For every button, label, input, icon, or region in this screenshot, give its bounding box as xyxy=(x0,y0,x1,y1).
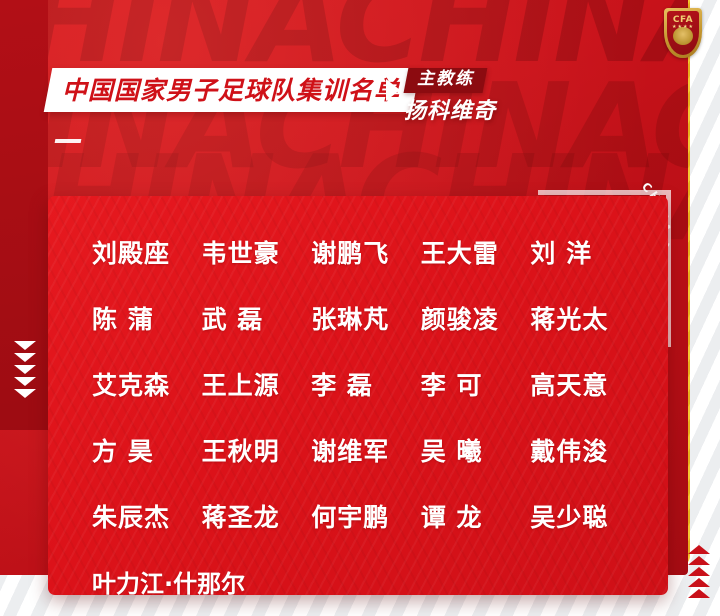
chevron-up-icon xyxy=(688,589,710,598)
chevron-down-icon xyxy=(14,353,36,362)
player-name: 谢鹏飞 xyxy=(311,230,421,278)
player-name: 吴 曦 xyxy=(421,428,531,476)
roster-grid: 刘殿座韦世豪谢鹏飞王大雷刘 洋陈 蒲武 磊张琳芃颜骏凌蒋光太艾克森王上源李 磊李… xyxy=(92,230,640,595)
player-name: 陈 蒲 xyxy=(92,296,202,344)
chevron-down-icon xyxy=(14,365,36,374)
roster-card: 刘殿座韦世豪谢鹏飞王大雷刘 洋陈 蒲武 磊张琳芃颜骏凌蒋光太艾克森王上源李 磊李… xyxy=(48,196,668,595)
coach-role-badge: 主教练 xyxy=(404,68,488,93)
chevron-up-icon xyxy=(688,567,710,576)
player-name: 方 昊 xyxy=(92,428,202,476)
chevron-up-icon xyxy=(688,556,710,565)
coach-role-label: 主教练 xyxy=(417,70,474,90)
coach-name: 扬科维奇 xyxy=(404,93,496,125)
player-name: 戴伟浚 xyxy=(530,428,640,476)
title-banner: 中国国家男子足球队集训名单 xyxy=(44,68,421,112)
player-name: 刘殿座 xyxy=(92,230,202,278)
player-name: 谢维军 xyxy=(311,428,421,476)
player-name: 王上源 xyxy=(202,362,312,410)
player-name: 王秋明 xyxy=(202,428,312,476)
player-name: 刘 洋 xyxy=(530,230,640,278)
chevron-up-icon xyxy=(688,578,710,587)
player-name: 吴少聪 xyxy=(530,494,640,542)
cfa-logo: CFA ★★★★ xyxy=(664,8,702,58)
page-title: 中国国家男子足球队集训名单 xyxy=(62,78,400,103)
stars-icon: ★★★★ xyxy=(672,24,694,30)
player-name: 叶力江·什那尔 xyxy=(92,560,311,595)
player-name: 高天意 xyxy=(530,362,640,410)
player-name: 李 可 xyxy=(421,362,531,410)
player-name: 韦世豪 xyxy=(202,230,312,278)
title-underline-dash xyxy=(55,139,82,143)
chevron-down-icon xyxy=(14,377,36,386)
player-name: 艾克森 xyxy=(92,362,202,410)
player-name: 王大雷 xyxy=(421,230,531,278)
shield-inner: CFA ★★★★ xyxy=(667,11,699,55)
player-name: 蒋光太 xyxy=(530,296,640,344)
player-name: 何宇鹏 xyxy=(311,494,421,542)
poster-root: CHINACHINACHINA CHINACHINACHINA CHINACHI… xyxy=(0,0,720,616)
chevron-down-icon-group xyxy=(14,341,36,398)
player-name: 李 磊 xyxy=(311,362,421,410)
shield-icon: CFA ★★★★ xyxy=(664,8,702,58)
chevron-down-icon xyxy=(14,389,36,398)
player-name: 颜骏凌 xyxy=(421,296,531,344)
chevron-up-icon xyxy=(688,545,710,554)
player-name: 张琳芃 xyxy=(311,296,421,344)
chevron-down-icon xyxy=(14,341,36,350)
title-arrow-icon xyxy=(386,79,400,101)
player-name: 谭 龙 xyxy=(421,494,531,542)
player-name: 武 磊 xyxy=(202,296,312,344)
player-name: 蒋圣龙 xyxy=(202,494,312,542)
player-name: 朱辰杰 xyxy=(92,494,202,542)
chevron-up-icon-group xyxy=(688,545,710,598)
